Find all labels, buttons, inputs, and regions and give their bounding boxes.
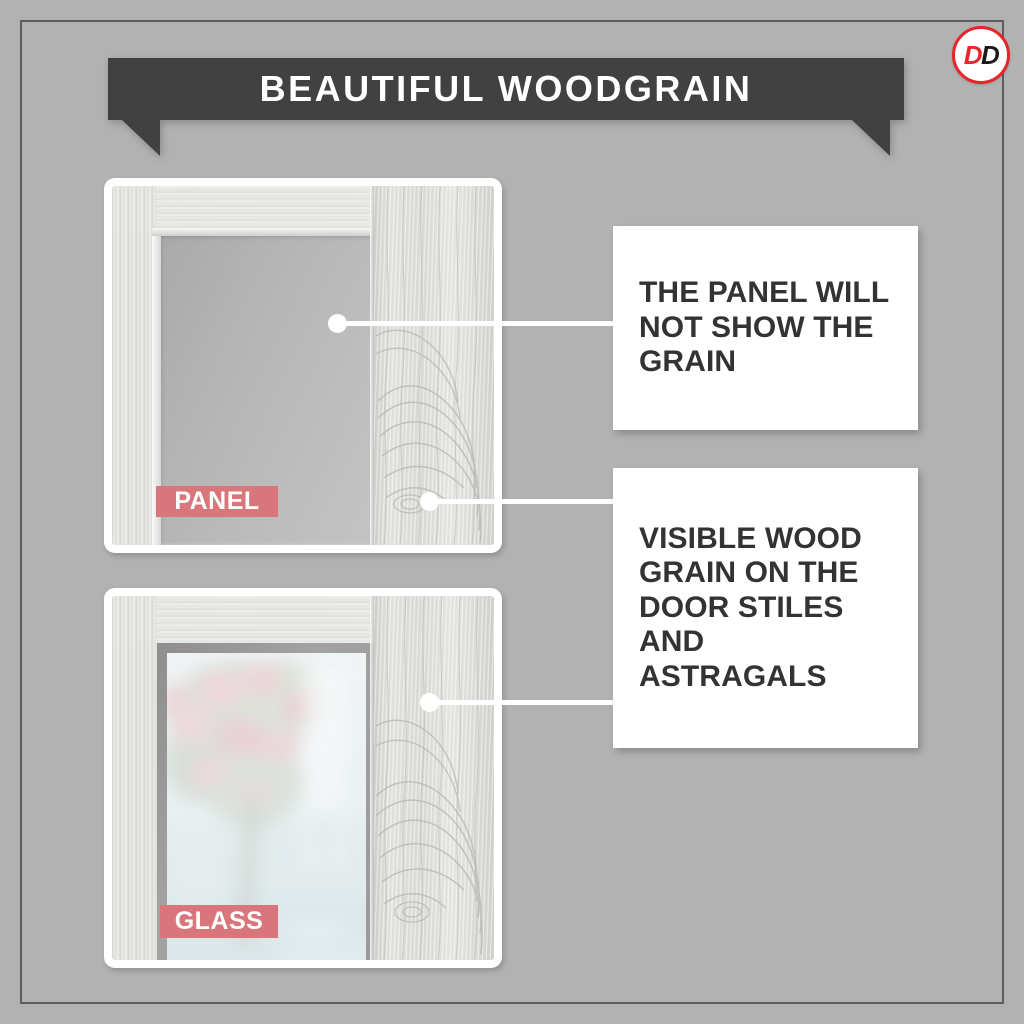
woodgrain-figure-icon (374, 596, 494, 960)
logo-letter-1: D (964, 40, 981, 70)
woodgrain-figure-icon (374, 186, 494, 545)
logo-letter-2: D (981, 40, 998, 70)
dd-logo: DD (952, 26, 1010, 84)
connector-stile-bottom-line (437, 700, 617, 705)
infographic-canvas: DD BEAUTIFUL WOODGRAIN (0, 0, 1024, 1024)
connector-panel-dot (328, 314, 347, 333)
door-reeded-edge (112, 186, 156, 545)
callout-panel-grain: THE PANEL WILL NOT SHOW THE GRAIN (613, 226, 918, 430)
panel-bevel-top (152, 228, 379, 236)
door-woodgrain-stile (374, 186, 494, 545)
door-woodgrain-stile (374, 596, 494, 960)
connector-stile-top-dot (420, 492, 439, 511)
page-title: BEAUTIFUL WOODGRAIN (108, 58, 904, 120)
glass-tag: GLASS (160, 905, 278, 938)
door-reeded-edge (112, 596, 156, 960)
panel-tag: PANEL (156, 486, 278, 517)
callout-wood-grain-text: VISIBLE WOOD GRAIN ON THE DOOR STILES AN… (639, 522, 892, 695)
connector-panel-line (345, 321, 617, 326)
callout-panel-grain-text: THE PANEL WILL NOT SHOW THE GRAIN (639, 276, 892, 380)
connector-stile-top-line (437, 499, 617, 504)
connector-stile-bottom-dot (420, 693, 439, 712)
callout-wood-grain: VISIBLE WOOD GRAIN ON THE DOOR STILES AN… (613, 468, 918, 748)
